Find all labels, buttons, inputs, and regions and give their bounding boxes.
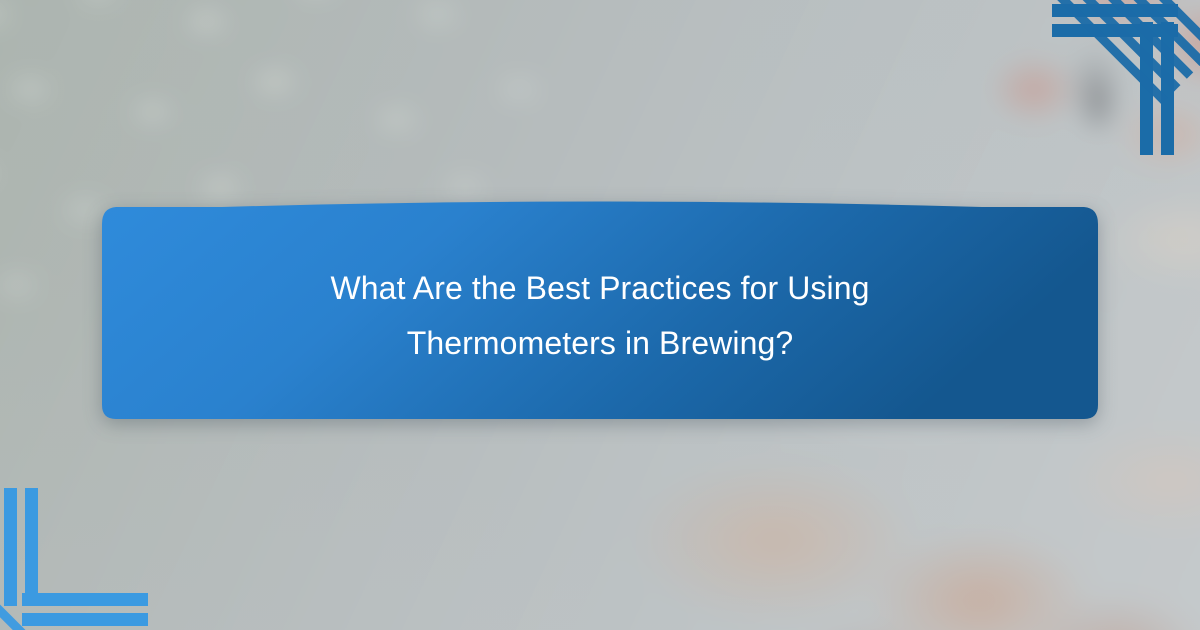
banner-text-area: What Are the Best Practices for Using Th…	[102, 198, 1098, 426]
page-title: What Are the Best Practices for Using Th…	[270, 261, 930, 371]
og-image-canvas: What Are the Best Practices for Using Th…	[0, 0, 1200, 630]
headline-banner: What Are the Best Practices for Using Th…	[102, 198, 1098, 426]
